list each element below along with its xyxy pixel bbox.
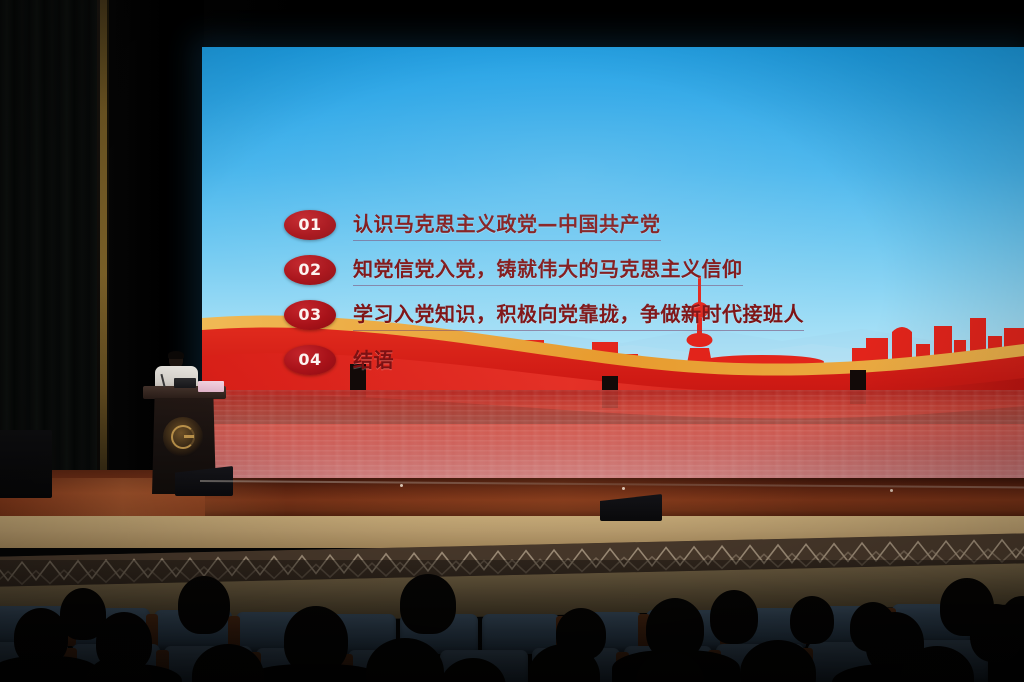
water-reflection — [202, 390, 1024, 478]
list-item-number-badge: 03 — [284, 300, 336, 330]
audience-seating — [0, 560, 1024, 682]
audience-head — [400, 574, 456, 634]
name-card — [198, 381, 224, 392]
list-item-number-badge: 01 — [284, 210, 336, 240]
water-streaks — [202, 390, 1024, 478]
audience-head — [710, 590, 758, 644]
presenter-hair — [168, 351, 184, 359]
list-item-number-badge: 02 — [284, 255, 336, 285]
audience-head — [790, 596, 834, 644]
list-item-label: 学习入党知识，积极向党靠拢，争做新时代接班人 — [353, 298, 804, 331]
slide-outline-list: 01 认识马克思主义政党—中国共产党 02 知党信党入党，铸就伟大的马克思主义信… — [284, 202, 804, 382]
list-item[interactable]: 03 学习入党知识，积极向党靠拢，争做新时代接班人 — [284, 292, 804, 337]
list-item-label: 认识马克思主义政党—中国共产党 — [353, 208, 661, 241]
list-item[interactable]: 04 结语 — [284, 337, 804, 382]
list-item-number-badge: 04 — [284, 345, 336, 375]
cable-highlight — [622, 487, 625, 490]
auditorium-photo: 01 认识马克思主义政党—中国共产党 02 知党信党入党，铸就伟大的马克思主义信… — [0, 0, 1024, 682]
list-item[interactable]: 01 认识马克思主义政党—中国共产党 — [284, 202, 804, 247]
cable-highlight — [890, 489, 893, 492]
podium-emblem-icon — [163, 417, 203, 457]
list-item-label: 结语 — [353, 344, 394, 376]
curtain-gold-trim — [100, 0, 107, 500]
list-item[interactable]: 02 知党信党入党，铸就伟大的马克思主义信仰 — [284, 247, 804, 292]
list-item-label: 知党信党入党，铸就伟大的马克思主义信仰 — [353, 253, 743, 286]
projection-screen: 01 认识马克思主义政党—中国共产党 02 知党信党入党，铸就伟大的马克思主义信… — [202, 47, 1024, 478]
stage-equipment-left — [0, 430, 52, 498]
laptop-icon — [174, 378, 196, 388]
emblem-g-glyph — [171, 425, 195, 449]
audience-head — [178, 576, 230, 634]
cable-highlight — [400, 484, 403, 487]
audience-head — [970, 604, 1022, 662]
